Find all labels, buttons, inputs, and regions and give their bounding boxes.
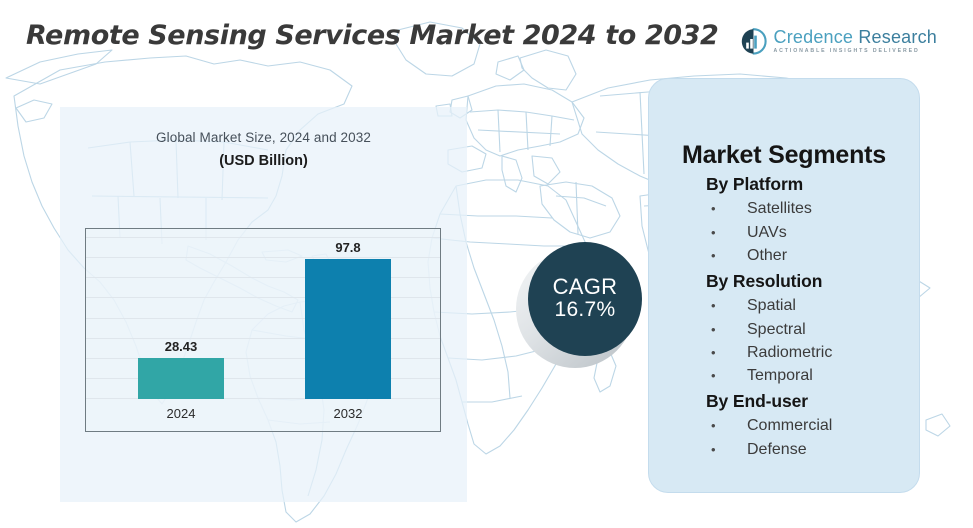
market-segments-list: By Platform•Satellites•UAVs•OtherBy Reso… (649, 172, 919, 461)
chart-bar-label: 2032 (305, 406, 391, 421)
segment-item-label: Spectral (747, 318, 806, 341)
infographic-canvas: Remote Sensing Services Market 2024 to 2… (0, 0, 973, 528)
logo-tagline: Actionable Insights Delivered (774, 49, 938, 54)
cagr-badge: CAGR 16.7% (516, 242, 642, 368)
segment-heading: By End-user (649, 389, 919, 414)
bullet-icon: • (711, 417, 747, 436)
segment-item[interactable]: •Commercial (649, 414, 919, 437)
chart-bar[interactable] (138, 358, 224, 399)
bullet-icon: • (711, 441, 747, 460)
page-title: Remote Sensing Services Market 2024 to 2… (26, 20, 718, 51)
bar-chart-circle-icon (740, 28, 767, 55)
bullet-icon: • (711, 344, 747, 363)
bar-chart: 28.43202497.82032 (85, 228, 441, 432)
segment-item-label: Defense (747, 438, 807, 461)
chart-heading-block: Global Market Size, 2024 and 2032 (USD B… (85, 130, 442, 169)
chart-bar-value: 28.43 (138, 339, 224, 354)
cagr-value: 16.7% (554, 298, 615, 322)
segment-item[interactable]: •Radiometric (649, 341, 919, 364)
segment-item[interactable]: •Spatial (649, 294, 919, 317)
chart-bar-value: 97.8 (305, 240, 391, 255)
bullet-icon: • (711, 224, 747, 243)
segment-item-label: Spatial (747, 294, 796, 317)
segment-group: By Resolution•Spatial•Spectral•Radiometr… (649, 269, 919, 387)
segment-item[interactable]: •Temporal (649, 364, 919, 387)
chart-bar-label: 2024 (138, 406, 224, 421)
segment-item-label: Other (747, 244, 787, 267)
bullet-icon: • (711, 297, 747, 316)
logo-name-research: Research (858, 27, 937, 47)
chart-bar-group: 97.82032 (305, 259, 391, 399)
segment-item-label: Commercial (747, 414, 832, 437)
logo-name-credence: Credence (774, 27, 854, 47)
segment-item[interactable]: •Spectral (649, 318, 919, 341)
chart-bar[interactable] (305, 259, 391, 399)
segment-item-label: Radiometric (747, 341, 832, 364)
market-segments-panel: Market Segments By Platform•Satellites•U… (648, 78, 920, 493)
bullet-icon: • (711, 247, 747, 266)
chart-bar-group: 28.432024 (138, 358, 224, 399)
bullet-icon: • (711, 367, 747, 386)
segment-heading: By Resolution (649, 269, 919, 294)
chart-title: Global Market Size, 2024 and 2032 (85, 130, 442, 145)
market-segments-title: Market Segments (649, 141, 919, 170)
bullet-icon: • (711, 321, 747, 340)
segment-item-label: Temporal (747, 364, 813, 387)
cagr-label: CAGR (553, 275, 618, 298)
segment-item-label: UAVs (747, 221, 787, 244)
segment-group: By Platform•Satellites•UAVs•Other (649, 172, 919, 267)
segment-item[interactable]: •Other (649, 244, 919, 267)
bullet-icon: • (711, 200, 747, 219)
segment-group: By End-user•Commercial•Defense (649, 389, 919, 461)
segment-item[interactable]: •Defense (649, 438, 919, 461)
brand-logo[interactable]: Credence Research Actionable Insights De… (740, 28, 938, 55)
logo-company-name: Credence Research (774, 28, 938, 46)
chart-plot-area: 28.43202497.82032 (86, 229, 440, 431)
chart-subtitle: (USD Billion) (85, 153, 442, 169)
segment-item[interactable]: •Satellites (649, 197, 919, 220)
segment-item[interactable]: •UAVs (649, 221, 919, 244)
segment-item-label: Satellites (747, 197, 812, 220)
cagr-circle: CAGR 16.7% (528, 242, 642, 356)
segment-heading: By Platform (649, 172, 919, 197)
